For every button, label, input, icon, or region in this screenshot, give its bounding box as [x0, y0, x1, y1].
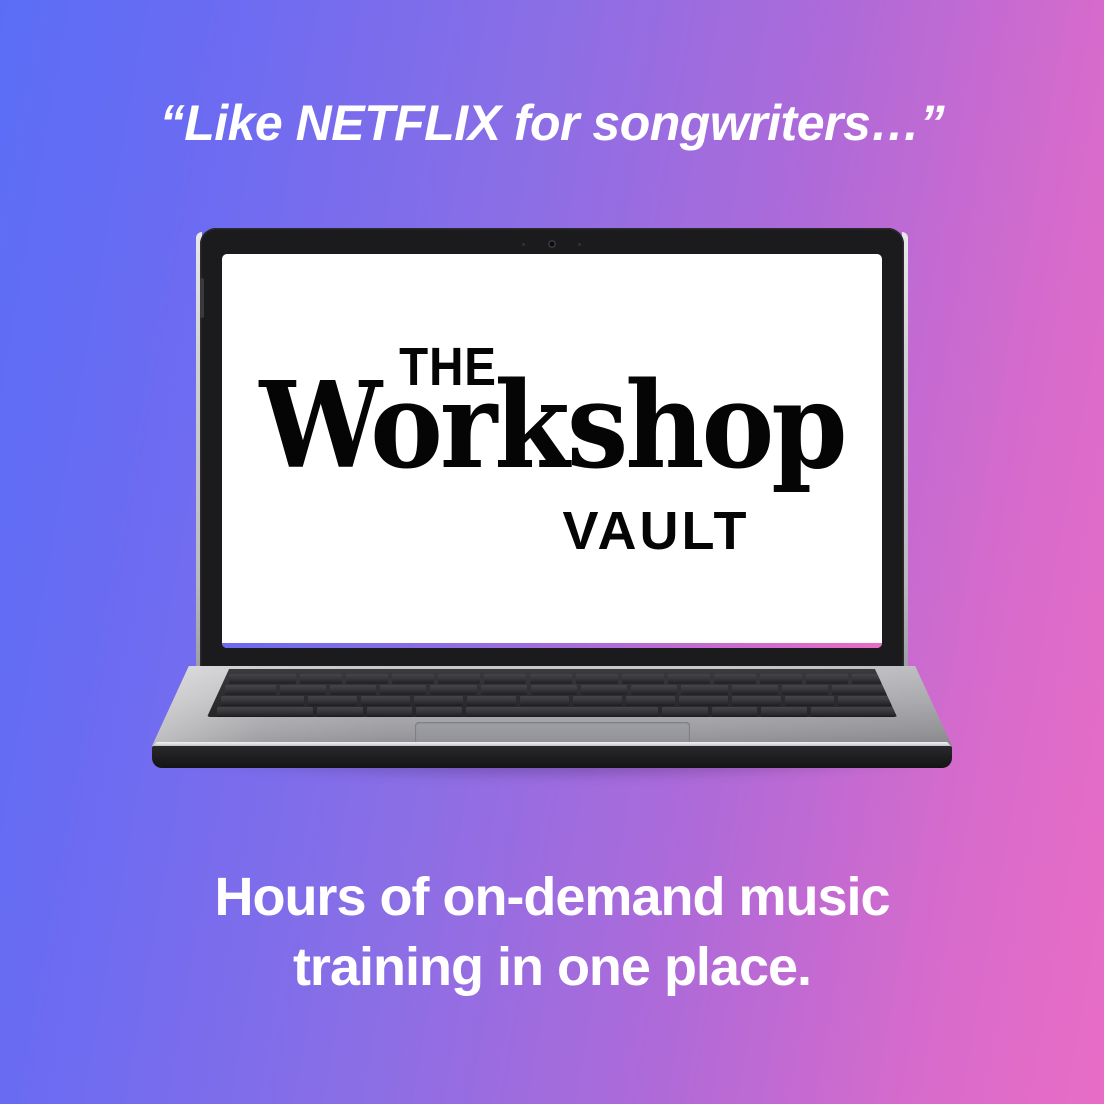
keyboard-key [622, 674, 664, 683]
keyboard-key [467, 696, 516, 705]
webcam-sensor-right-icon [578, 243, 581, 246]
keyboard-key [679, 696, 728, 705]
webcam-icon [548, 240, 556, 248]
keyboard-key [631, 685, 677, 694]
keyboard-spacebar [466, 707, 658, 716]
screen-bottom-reflection [222, 643, 882, 648]
keyboard-key [760, 674, 802, 683]
keyboard-key [782, 685, 828, 694]
keyboard-key [346, 674, 388, 683]
keyboard-key [531, 685, 577, 694]
keyboard-key [626, 696, 675, 705]
keyboard-key [221, 696, 304, 705]
keyboard-key [520, 696, 569, 705]
keyboard-key [581, 685, 627, 694]
keyboard-key [361, 696, 410, 705]
subtitle-text: Hours of on-demand music training in one… [0, 862, 1104, 1002]
laptop-lid: THE Workshop VAULT [200, 228, 904, 670]
logo-word-workshop: Workshop [222, 366, 882, 485]
workshop-vault-logo: THE Workshop VAULT [222, 254, 882, 648]
logo-word-vault: VAULT [326, 504, 882, 558]
keyboard-key [367, 707, 413, 716]
keyboard-key [761, 707, 807, 716]
keyboard-key [530, 674, 572, 683]
keyboard-key [280, 685, 326, 694]
headline-text: “Like NETFLIX for songwriters…” [0, 96, 1104, 151]
keyboard-key [481, 685, 527, 694]
laptop-base [152, 666, 952, 762]
keyboard-key [712, 707, 758, 716]
keyboard-key [811, 707, 907, 716]
keyboard-key [225, 685, 276, 694]
keyboard-row-home [207, 696, 925, 705]
laptop-front-edge [152, 746, 952, 768]
keyboard-key [414, 696, 463, 705]
keyboard-key [573, 696, 622, 705]
keyboard-key [714, 674, 756, 683]
keyboard-key [785, 696, 834, 705]
laptop-screen: THE Workshop VAULT [222, 254, 882, 648]
keyboard-row-function [207, 674, 941, 683]
keyboard-key [217, 707, 313, 716]
subtitle-line-2: training in one place. [0, 932, 1104, 1002]
laptop-hinge-notch [200, 278, 204, 318]
keyboard-key [300, 674, 342, 683]
keyboard-row-space [207, 707, 917, 716]
keyboard-key [317, 707, 363, 716]
webcam-sensor-left-icon [522, 243, 525, 246]
keyboard-key [732, 696, 781, 705]
keyboard-key [681, 685, 727, 694]
keyboard-key [484, 674, 526, 683]
keyboard-key [438, 674, 480, 683]
keyboard-key [380, 685, 426, 694]
keyboard-key [430, 685, 476, 694]
keyboard-row-numbers [207, 685, 933, 694]
keyboard-key [308, 696, 357, 705]
keyboard-key [392, 674, 434, 683]
keyboard-key [662, 707, 708, 716]
laptop-keyboard [207, 669, 897, 717]
keyboard-key [668, 674, 710, 683]
subtitle-line-1: Hours of on-demand music [0, 862, 1104, 932]
keyboard-key [576, 674, 618, 683]
poster-canvas: “Like NETFLIX for songwriters…” THE Work… [0, 0, 1104, 1104]
keyboard-key [732, 685, 778, 694]
keyboard-key [416, 707, 462, 716]
laptop-illustration: THE Workshop VAULT [152, 228, 952, 778]
keyboard-key [806, 674, 848, 683]
keyboard-key [330, 685, 376, 694]
keyboard-key [229, 674, 296, 683]
